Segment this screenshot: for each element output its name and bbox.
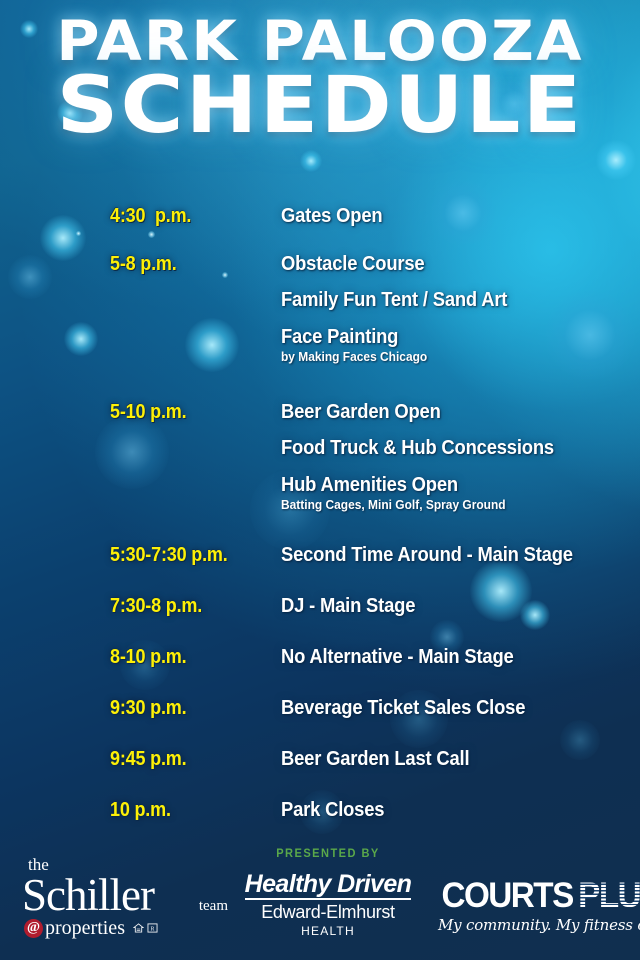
schedule-time: 7:30-8 p.m. [110,595,202,618]
presented-by-label: PRESENTED BY [236,846,420,860]
sponsor-logo-healthy-driven: PRESENTED BY Healthy Driven Edward-Elmhu… [228,846,428,938]
schedule-time: 5-8 p.m. [110,253,177,276]
schedule-events: Gates Open [281,205,640,227]
schedule-time: 8-10 p.m. [110,646,186,669]
schedule-events: Beer Garden Last Call [281,748,640,770]
list-item: Beverage Ticket Sales Close [281,697,628,719]
schedule-events: Second Time Around - Main Stage [281,544,640,566]
page-subtitle: SCHEDULE [0,70,640,143]
edward-elmhurst-label: Edward-Elmhurst [228,903,428,923]
event-title: Park Closes [281,799,600,821]
list-item: Food Truck & Hub Concessions [281,437,628,459]
poster-title-block: PARK PALOOZA SCHEDULE [0,16,640,143]
courts-plus-tagline: My community. My fitness center. [438,916,628,934]
event-title: Face Painting [281,326,600,348]
healthy-driven-brand: Healthy Driven [245,871,412,900]
list-item: Second Time Around - Main Stage [281,544,628,566]
schedule-time: 5:30-7:30 p.m. [110,544,228,567]
svg-text:R: R [151,926,155,932]
event-note: by Making Faces Chicago [281,349,600,365]
bokeh-circle [596,140,636,180]
event-title: Beverage Ticket Sales Close [281,697,600,719]
realtor-icon: R [147,923,158,933]
at-properties-lockup: @ properties R [24,918,224,938]
schedule-row: 9:30 p.m. Beverage Ticket Sales Close [0,697,640,748]
event-title: Hub Amenities Open [281,474,600,496]
schedule-events: DJ - Main Stage [281,595,640,617]
event-title: DJ - Main Stage [281,595,600,617]
schedule-events: No Alternative - Main Stage [281,646,640,668]
schedule-row: 5-10 p.m. Beer Garden Open Food Truck & … [0,401,640,544]
event-title: Beer Garden Open [281,401,600,423]
courts-label: COURTS [441,878,572,913]
list-item: Park Closes [281,799,628,821]
list-item: DJ - Main Stage [281,595,628,617]
schedule-row: 7:30-8 p.m. DJ - Main Stage [0,595,640,646]
schedule-time: 10 p.m. [110,799,171,822]
schedule-time: 9:45 p.m. [110,748,186,771]
sponsor-footer: the Schiller team @ properties R [0,820,640,960]
schedule-time: 5-10 p.m. [110,401,186,424]
event-title: Second Time Around - Main Stage [281,544,600,566]
health-label: HEALTH [228,924,428,938]
schiller-name-wrap: Schiller team [22,873,224,917]
schedule-row: 8-10 p.m. No Alternative - Main Stage [0,646,640,697]
equal-housing-icon [133,923,144,933]
event-title: Beer Garden Last Call [281,748,600,770]
event-schedule-poster: PARK PALOOZA SCHEDULE 4:30 p.m. Gates Op… [0,0,640,960]
list-item: Beer Garden Last Call [281,748,628,770]
schedule-events: Beer Garden Open Food Truck & Hub Conces… [281,401,640,513]
schedule-events: Park Closes [281,799,640,821]
list-item: Obstacle Course [281,253,628,275]
schedule-list: 4:30 p.m. Gates Open 5-8 p.m. Obstacle C… [0,205,640,847]
at-symbol-icon: @ [24,919,43,938]
schedule-row: 5:30-7:30 p.m. Second Time Around - Main… [0,544,640,595]
list-item: Face Painting by Making Faces Chicago [281,326,628,365]
compliance-icons: R [133,923,158,933]
bokeh-circle [300,150,322,172]
schiller-name: Schiller [22,873,154,917]
event-title: Family Fun Tent / Sand Art [281,289,600,311]
schedule-time: 9:30 p.m. [110,697,186,720]
event-title: Obstacle Course [281,253,600,275]
courts-plus-wordmark: COURTSPLUS [438,878,628,913]
list-item: Family Fun Tent / Sand Art [281,289,628,311]
plus-label: PLUS [578,878,640,913]
properties-label: properties [45,918,125,938]
schiller-team-label: team [199,898,228,915]
sponsor-logo-courts-plus: COURTSPLUS My community. My fitness cent… [438,878,628,934]
event-title: Gates Open [281,205,600,227]
list-item: No Alternative - Main Stage [281,646,628,668]
list-item: Beer Garden Open [281,401,628,423]
schedule-row: 9:45 p.m. Beer Garden Last Call [0,748,640,799]
schedule-time: 4:30 p.m. [110,205,191,228]
schedule-events: Obstacle Course Family Fun Tent / Sand A… [281,253,640,365]
event-title: No Alternative - Main Stage [281,646,600,668]
schedule-events: Beverage Ticket Sales Close [281,697,640,719]
list-item: Gates Open [281,205,628,227]
event-note: Batting Cages, Mini Golf, Spray Ground [281,497,600,513]
event-title: Food Truck & Hub Concessions [281,437,600,459]
schedule-row: 5-8 p.m. Obstacle Course Family Fun Tent… [0,253,640,401]
list-item: Hub Amenities Open Batting Cages, Mini G… [281,474,628,513]
sponsor-logo-schiller-team: the Schiller team @ properties R [14,856,224,938]
schedule-row: 4:30 p.m. Gates Open [0,205,640,253]
